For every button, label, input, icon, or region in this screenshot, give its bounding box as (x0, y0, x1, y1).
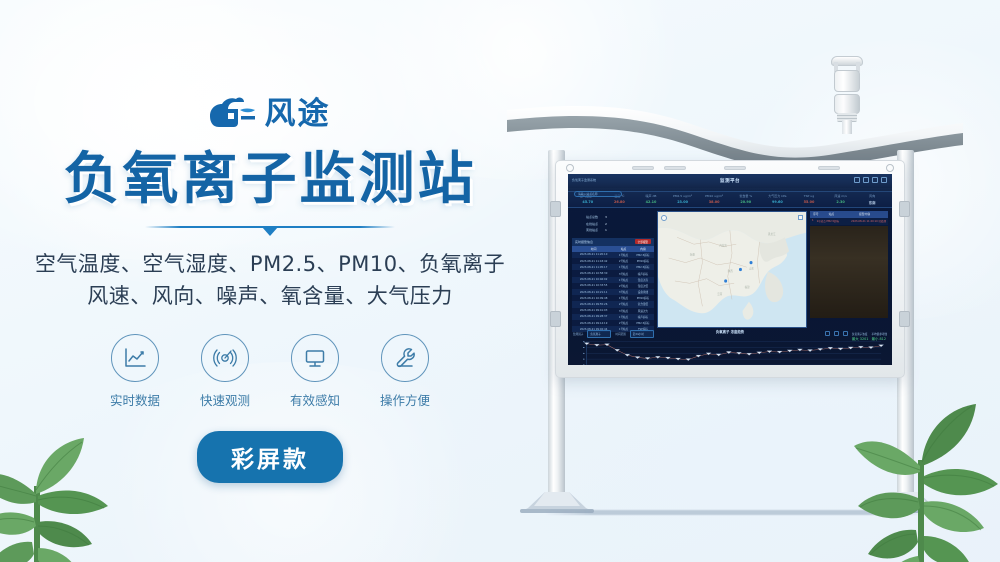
side-bracket (899, 311, 910, 327)
right-panel: 序号 站点 报警内容 1 1号站点 PM2.5超标 2023-08-21 11:… (810, 211, 888, 328)
china-map[interactable]: 新疆内蒙古 陕西山东 云南福建 黑龙江 (657, 211, 807, 328)
feature-item-effective-sensing[interactable]: 有效感知 (286, 334, 344, 409)
feature-item-easy-operation[interactable]: 操作方便 (376, 334, 434, 409)
svg-text:黑龙江: 黑龙江 (768, 232, 776, 236)
monitoring-station-illustration: 负氧离子监测系统 监测平台 请输入站点名称 空气湿度 %45.70温度 ℃26.… (505, 48, 965, 518)
wrench-icon (381, 334, 429, 382)
promo-text-panel: 风途 负氧离子监测站 空气温度、空气湿度、PM2.5、PM10、负氧离子 风速、… (0, 0, 540, 562)
feature-label: 有效感知 (290, 390, 340, 409)
parameter-list: 空气温度、空气湿度、PM2.5、PM10、负氧离子 风速、风向、噪声、氧含量、大… (35, 249, 505, 312)
chart-title: 负氧离子 浓度趋势 (568, 329, 892, 334)
dashboard-header: 负氧离子监测系统 监测平台 (568, 174, 892, 188)
mount-tab (818, 166, 840, 170)
title-divider (145, 223, 395, 235)
brand-logo: 风途 (210, 92, 331, 136)
dashboard-title: 监测平台 (720, 178, 740, 184)
parameter-line-1: 空气温度、空气湿度、PM2.5、PM10、负氧离子 (35, 249, 505, 281)
ground-shadow (545, 510, 925, 515)
radar-observation-icon (201, 334, 249, 382)
toolbar-icon[interactable] (863, 177, 869, 183)
toolbar-icon[interactable] (881, 177, 887, 183)
parameter-line-2: 风速、风向、噪声、氧含量、大气压力 (35, 281, 505, 313)
sensor-body-upper (834, 70, 860, 92)
monitor-screen-icon (291, 334, 339, 382)
toolbar-icon[interactable] (872, 177, 878, 183)
chart-plot-area: 00:0001:0002:0003:0004:0005:0006:0007:00… (573, 340, 887, 365)
line-chart-icon (111, 334, 159, 382)
promo-banner: 风途 负氧离子监测站 空气温度、空气湿度、PM2.5、PM10、负氧离子 风速、… (0, 0, 1000, 562)
svg-text:新疆: 新疆 (690, 253, 695, 257)
mount-tab (724, 166, 746, 170)
feature-label: 快速观测 (200, 390, 250, 409)
display-monitor: 负氧离子监测系统 监测平台 请输入站点名称 空气湿度 %45.70温度 ℃26.… (555, 160, 905, 378)
toolbar-icon[interactable] (854, 177, 860, 183)
feature-item-realtime-data[interactable]: 实时数据 (106, 334, 164, 409)
mount-hole-icon (886, 164, 894, 172)
feature-item-fast-observation[interactable]: 快速观测 (196, 334, 254, 409)
side-bracket (550, 311, 561, 327)
mount-tab (632, 166, 654, 170)
side-bracket (550, 201, 561, 217)
side-bracket (899, 201, 910, 217)
dashboard-logo: 负氧离子监测系统 (572, 178, 596, 182)
mount-hole-icon (566, 164, 574, 172)
dashboard-screen[interactable]: 负氧离子监测系统 监测平台 请输入站点名称 空气湿度 %45.70温度 ℃26.… (568, 174, 892, 365)
map-locate-icon[interactable] (661, 215, 667, 221)
svg-text:山东: 山东 (749, 266, 754, 270)
cloud-g-logo-icon (210, 97, 256, 131)
map-fullscreen-icon[interactable] (798, 215, 803, 220)
svg-text:内蒙古: 内蒙古 (719, 243, 727, 247)
brand-name: 风途 (265, 99, 331, 130)
svg-text:陕西: 陕西 (728, 269, 733, 273)
divider-caret-icon (262, 227, 278, 236)
feature-label: 实时数据 (110, 390, 160, 409)
page-title: 负氧离子监测站 (64, 150, 477, 209)
color-screen-model-button[interactable]: 彩屏款 (197, 431, 343, 483)
station-search-input[interactable]: 请输入站点名称 (574, 191, 622, 197)
dashboard-toolbar[interactable] (854, 177, 887, 183)
svg-text:福建: 福建 (745, 285, 750, 289)
svg-text:云南: 云南 (717, 292, 722, 296)
feature-list: 实时数据 快速观测 (106, 334, 434, 409)
feature-label: 操作方便 (380, 390, 430, 409)
mount-tab (664, 166, 686, 170)
camera-feed[interactable] (810, 226, 888, 318)
trend-chart-panel: 负氧离子 浓度趋势 监测因子 负氧离子 时间范围 近24小时 负氧离子浓度 平均… (568, 328, 892, 365)
